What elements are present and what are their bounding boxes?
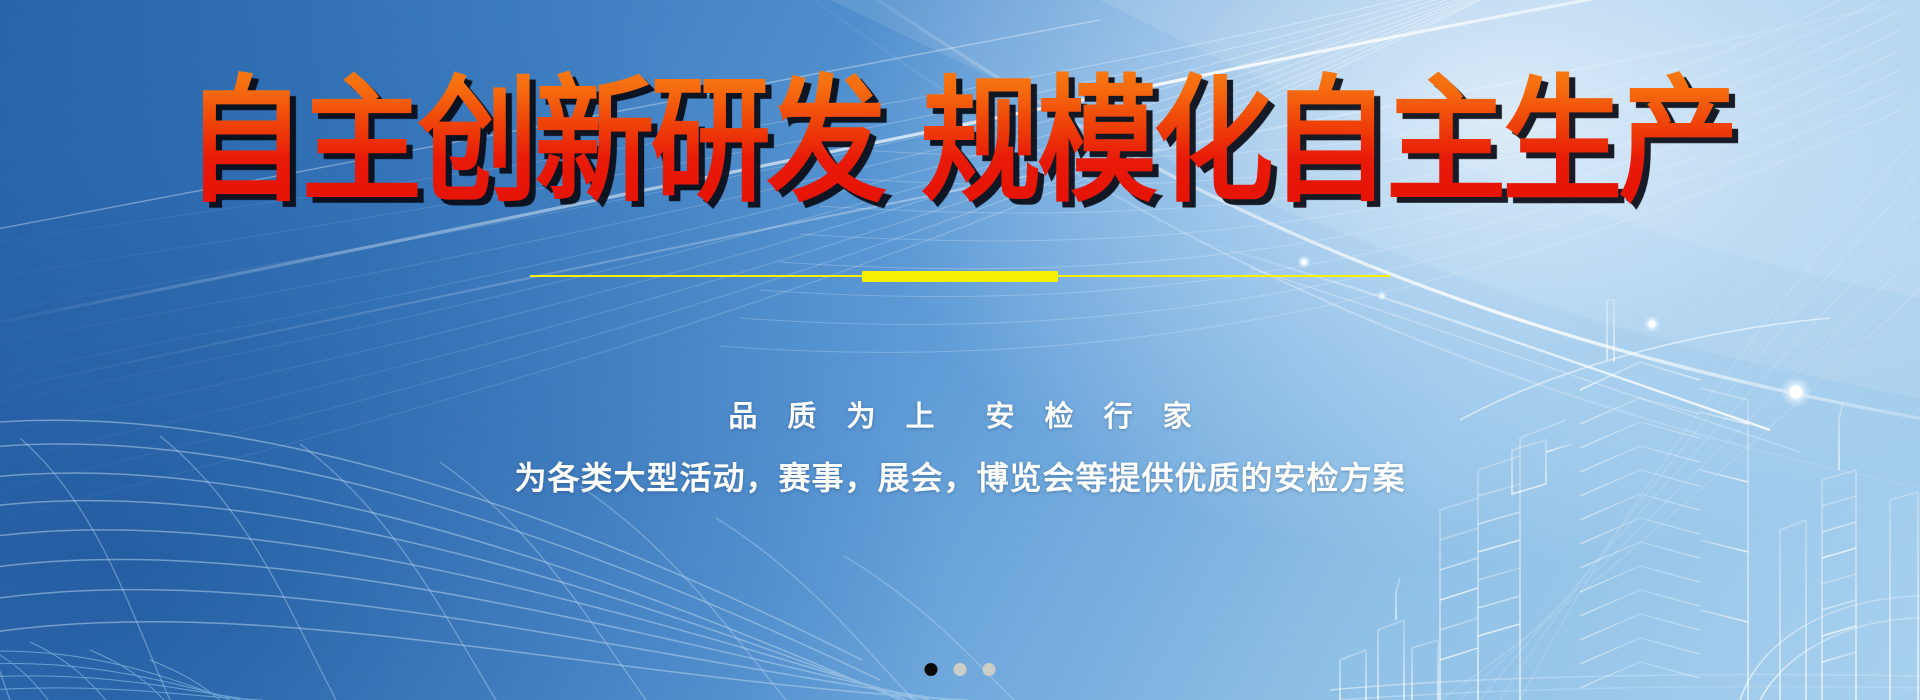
subtitle-secondary: 为各类大型活动，赛事，展会，博览会等提供优质的安检方案: [0, 453, 1920, 499]
subtitle-primary: 品 质 为 上 安 检 行 家: [0, 393, 1920, 435]
divider-center-accent: [862, 271, 1058, 282]
page-title: 自主创新研发 规模化自主生产: [0, 68, 1920, 216]
carousel-dot-3[interactable]: [983, 663, 996, 676]
carousel-pagination[interactable]: [925, 663, 996, 676]
carousel-dot-2[interactable]: [954, 663, 967, 676]
banner-content: 自主创新研发 规模化自主生产 品 质 为 上 安 检 行 家 为各类大型活动，赛…: [0, 0, 1920, 700]
hero-banner: 自主创新研发 规模化自主生产 品 质 为 上 安 检 行 家 为各类大型活动，赛…: [0, 0, 1920, 700]
carousel-dot-1[interactable]: [925, 663, 938, 676]
title-divider: [530, 274, 1390, 278]
